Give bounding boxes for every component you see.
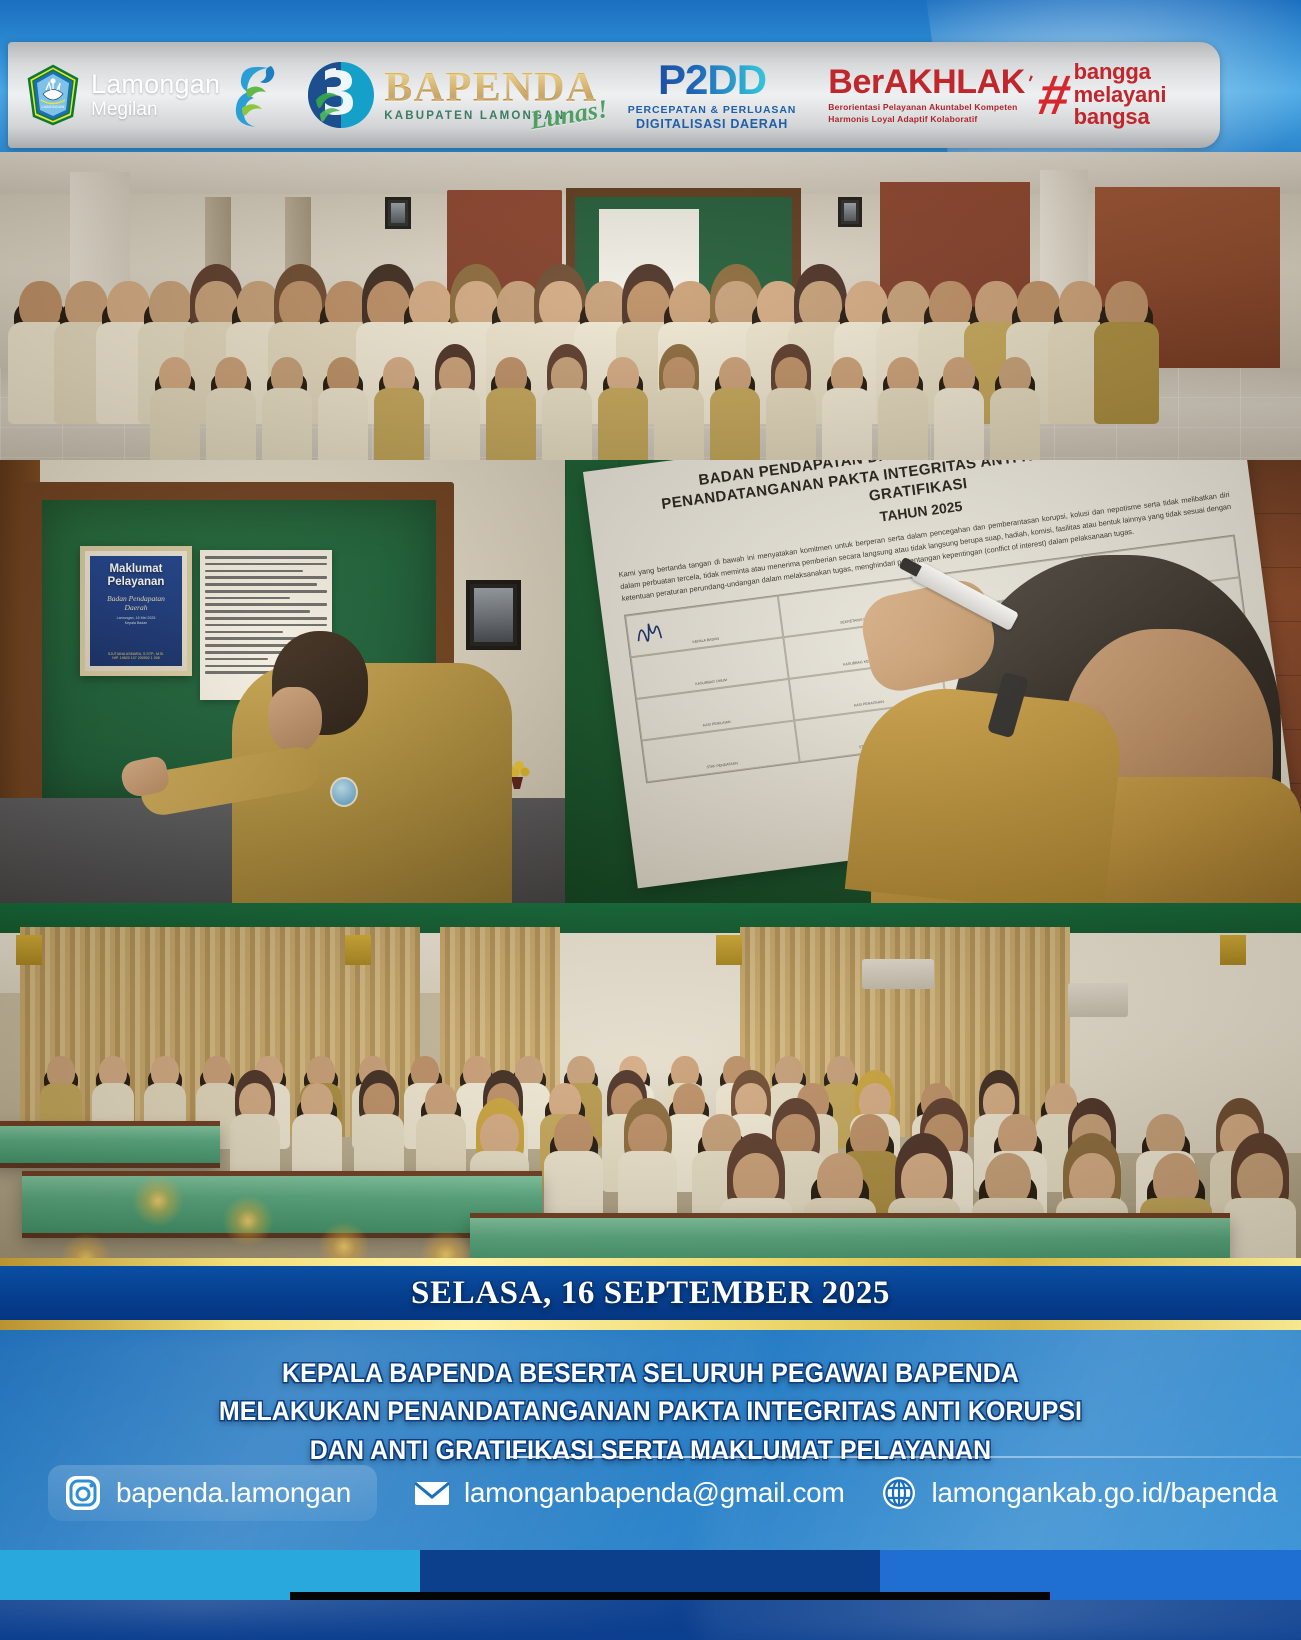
bapenda-wordmark: BAPENDA KABUPATEN LAMONGAN Lunas! <box>384 68 598 121</box>
plaque-meta-line2: Kepala Badan <box>117 621 156 626</box>
lamongan-coat-of-arms-icon: LAMONGAN <box>26 64 80 126</box>
email-icon <box>413 1474 451 1512</box>
photo-audience-room <box>0 903 1301 1261</box>
plaque-subtitle-line1: Badan Pendapatan <box>107 594 165 603</box>
photo-person-silhouette <box>1094 256 1159 424</box>
bottom-shadow-strip <box>290 1592 1050 1600</box>
photo-person-silhouette <box>262 339 312 460</box>
plaque-subtitle-line2: Daerah <box>107 603 165 612</box>
hashtag-icon: # <box>1034 70 1074 120</box>
p2dd-mark: P2DD <box>628 59 797 101</box>
plaque-signature: SJUTIANA ASMARA, S.STP., M.Si. NIP. 1982… <box>108 652 164 661</box>
photo-person-silhouette <box>990 339 1040 460</box>
maklumat-pelayanan-plaque: Maklumat Pelayanan Badan Pendapatan Daer… <box>80 546 192 676</box>
bangga-melayani-bangsa-tagline: bangga melayani bangsa <box>1074 61 1167 129</box>
photo-maklumat-signing: Maklumat Pelayanan Badan Pendapatan Daer… <box>0 460 565 903</box>
bapenda-swirl-globe-icon <box>306 60 376 130</box>
presidential-portrait <box>466 580 521 650</box>
lamongan-wordmark: Lamongan Megilan <box>91 71 220 119</box>
plaque-title-line2: Pelayanan <box>108 576 165 589</box>
plaque-title: Maklumat Pelayanan <box>108 563 165 589</box>
photo-pakta-integritas-signing: BADAN PENDAPATAN DAERAH KABUPATEN LAMONG… <box>565 460 1301 903</box>
lamongan-wave-mark-icon <box>224 60 284 130</box>
photo-person-silhouette <box>766 339 816 460</box>
lamongan-line2: Megilan <box>91 100 220 119</box>
date-banner: SELASA, 16 SEPTEMBER 2025 <box>0 1266 1301 1320</box>
berakhlak-title: BerAKHLAK' <box>828 65 1030 99</box>
caption-line-1: KEPALA BAPENDA BESERTA SELURUH PEGAWAI B… <box>77 1354 1225 1392</box>
plaque-signature-nip: NIP. 19820 107 200902 1 005 <box>108 656 164 661</box>
instagram-icon <box>64 1474 102 1512</box>
contact-website[interactable]: lamongankab.go.id/bapenda <box>880 1474 1277 1512</box>
lamongan-line1: Lamongan <box>91 71 220 98</box>
contact-bar: bapenda.lamongan lamonganbapenda@gmail.c… <box>0 1462 1301 1524</box>
gold-divider-bottom <box>0 1320 1301 1330</box>
globe-icon <box>880 1474 918 1512</box>
berakhlak-subtitle-line1: Berorientasi Pelayanan Akuntabel Kompete… <box>828 102 1030 113</box>
photo-person-silhouette <box>878 339 928 460</box>
contact-email-label: lamonganbapenda@gmail.com <box>464 1477 845 1509</box>
plaque-title-line1: Maklumat <box>108 563 165 576</box>
plaque-meta: Lamongan, 16 Mei 2025 Kepala Badan <box>117 616 156 625</box>
poster-root: LAMONGAN Lamongan Megilan <box>0 0 1301 1600</box>
logo-strip: LAMONGAN Lamongan Megilan <box>8 42 1220 148</box>
contact-instagram-label: bapenda.lamongan <box>116 1477 351 1509</box>
caption-block: KEPALA BAPENDA BESERTA SELURUH PEGAWAI B… <box>0 1330 1301 1469</box>
photo-person-silhouette <box>150 339 200 460</box>
plaque-subtitle: Badan Pendapatan Daerah <box>107 594 165 612</box>
photo-person-silhouette <box>934 339 984 460</box>
caption-line-2: MELAKUKAN PENANDATANGANAN PAKTA INTEGRIT… <box>77 1392 1225 1430</box>
photo-person-silhouette <box>430 339 480 460</box>
svg-text:LAMONGAN: LAMONGAN <box>42 104 65 109</box>
tagline-line1: bangga <box>1074 61 1167 84</box>
header-banner: LAMONGAN Lamongan Megilan <box>0 0 1301 152</box>
photo-person-silhouette <box>542 339 592 460</box>
contact-website-label: lamongankab.go.id/bapenda <box>931 1477 1277 1509</box>
photo-person-silhouette <box>654 339 704 460</box>
photo-person-silhouette <box>598 339 648 460</box>
tagline-line3: bangsa <box>1074 106 1167 129</box>
tagline-line2: melayani <box>1074 84 1167 107</box>
logo-p2dd: P2DD PERCEPATAN & PERLUASAN DIGITALISASI… <box>628 59 797 131</box>
contact-divider-line <box>510 1456 1301 1458</box>
photo-person-silhouette <box>318 339 368 460</box>
banner-signature-cell-label: STAF PENDATAAN <box>650 754 795 777</box>
photo-person-silhouette <box>374 339 424 460</box>
date-text: SELASA, 16 SEPTEMBER 2025 <box>411 1275 890 1312</box>
photo-person-silhouette <box>1224 1126 1296 1261</box>
berakhlak-subtitle-line2: Harmonis Loyal Adaptif Kolaboratif <box>828 114 1030 125</box>
photo-person-silhouette <box>486 339 536 460</box>
p2dd-subtitle-2: DIGITALISASI DAERAH <box>628 117 797 131</box>
berakhlak-title-text: BerAKHLAK <box>828 63 1025 101</box>
photo-person-silhouette <box>710 339 760 460</box>
berakhlak-subtitle: Berorientasi Pelayanan Akuntabel Kompete… <box>828 102 1030 125</box>
p2dd-subtitle-1: PERCEPATAN & PERLUASAN <box>628 104 797 116</box>
contact-email[interactable]: lamonganbapenda@gmail.com <box>413 1474 845 1512</box>
photo-person-silhouette <box>206 339 256 460</box>
photo-group-portrait <box>0 152 1301 460</box>
logo-bapenda: BAPENDA KABUPATEN LAMONGAN Lunas! <box>306 60 598 130</box>
contact-instagram[interactable]: bapenda.lamongan <box>48 1465 377 1521</box>
photo-person-silhouette <box>822 339 872 460</box>
logo-lamongan-megilan: LAMONGAN Lamongan Megilan <box>26 42 284 148</box>
logo-berakhlak: BerAKHLAK' Berorientasi Pelayanan Akunta… <box>828 61 1166 129</box>
